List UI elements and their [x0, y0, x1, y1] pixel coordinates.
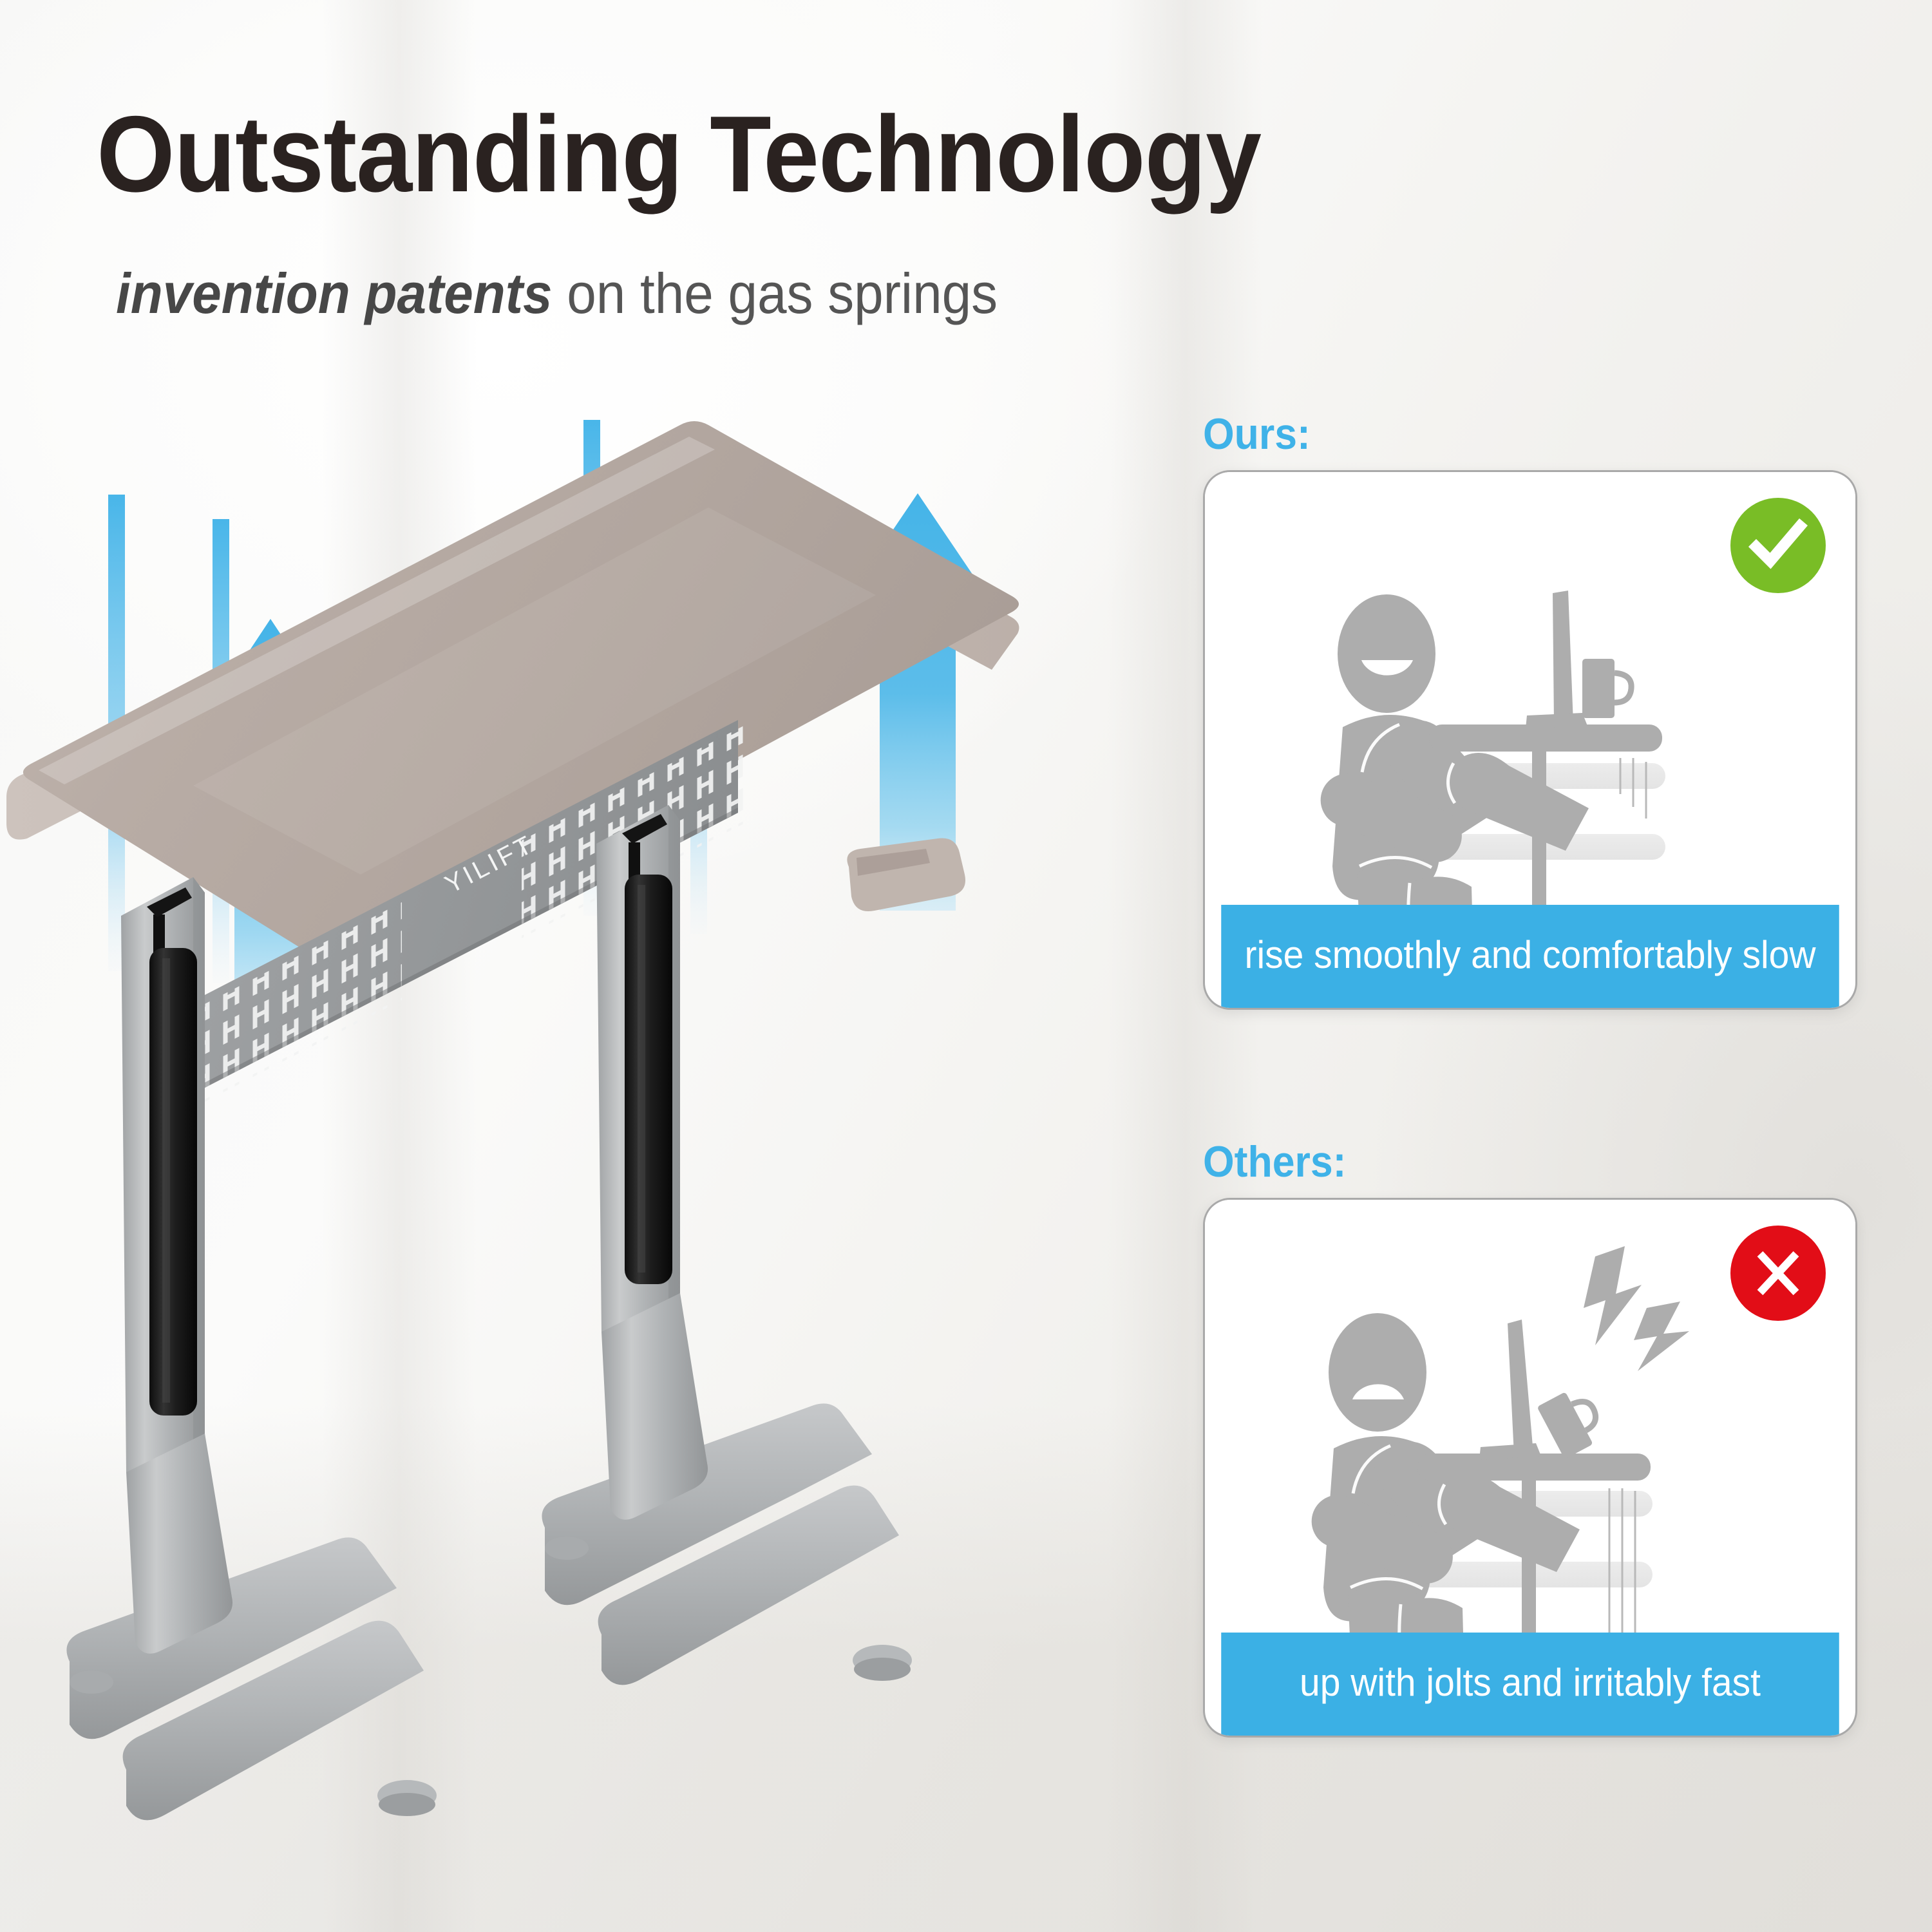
subtitle-emphasis: invention patents: [116, 261, 553, 325]
laptop: [1526, 591, 1587, 728]
laptop: [1479, 1320, 1541, 1460]
others-label: Others:: [1203, 1140, 1801, 1184]
cross-mark-icon: [1730, 1226, 1826, 1321]
standing-desk-illustration: YILIFT: [0, 335, 1133, 1829]
others-card[interactable]: up with jolts and irritably fast: [1203, 1198, 1857, 1738]
ours-caption: rise smoothly and comfortably slow: [1221, 905, 1839, 1008]
desk-column: [1532, 743, 1546, 905]
desk-column: [1522, 1472, 1536, 1633]
page-subtitle: invention patents on the gas springs: [116, 265, 998, 322]
others-caption: up with jolts and irritably fast: [1221, 1633, 1839, 1736]
jolt-icon: [1584, 1246, 1689, 1371]
comparison-ours: Ours:: [1203, 412, 1853, 1010]
desk-leg-right: [542, 805, 912, 1685]
coffee-cup: [1582, 659, 1631, 718]
page-title: Outstanding Technology: [97, 100, 1261, 208]
ours-illustration: [1205, 472, 1855, 905]
others-illustration: [1205, 1200, 1855, 1633]
ours-label: Ours:: [1203, 412, 1801, 456]
check-mark-icon: [1730, 498, 1826, 593]
coffee-cup: [1537, 1384, 1607, 1459]
height-adjust-lever: [847, 838, 965, 911]
ours-card[interactable]: rise smoothly and comfortably slow: [1203, 470, 1857, 1010]
comparison-others: Others:: [1203, 1140, 1853, 1738]
infographic-canvas: Outstanding Technology invention patents…: [0, 0, 1932, 1932]
subtitle-rest: on the gas springs: [553, 261, 998, 325]
